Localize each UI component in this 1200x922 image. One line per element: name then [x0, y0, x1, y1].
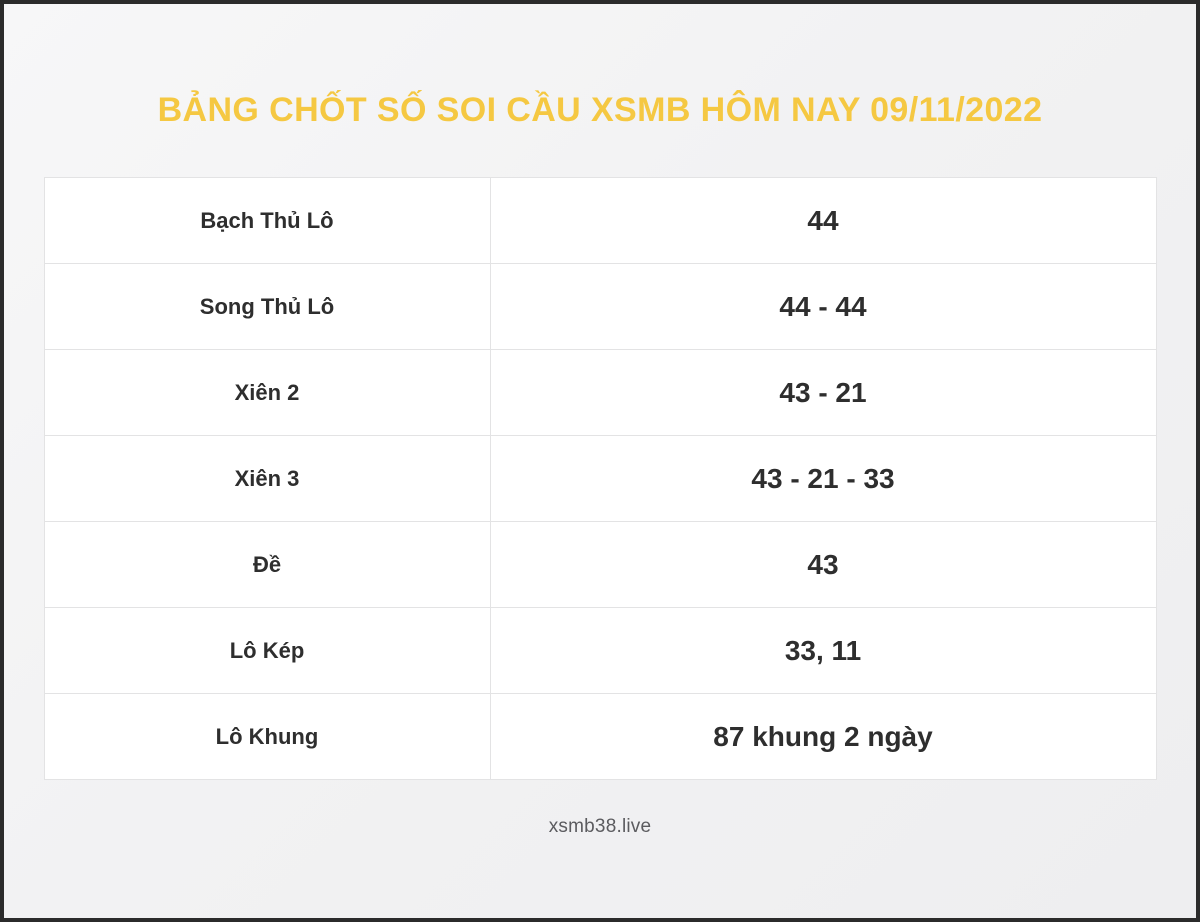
prediction-table: Bạch Thủ Lô44Song Thủ Lô44 - 44Xiên 243 … [44, 177, 1157, 780]
row-value: 44 - 44 [490, 264, 1156, 350]
table-row: Xiên 343 - 21 - 33 [44, 436, 1156, 522]
prediction-table-wrapper: Bạch Thủ Lô44Song Thủ Lô44 - 44Xiên 243 … [44, 177, 1157, 780]
table-row: Lô Khung87 khung 2 ngày [44, 694, 1156, 780]
row-value: 44 [490, 178, 1156, 264]
page-container: BẢNG CHỐT SỐ SOI CẦU XSMB HÔM NAY 09/11/… [0, 0, 1200, 922]
row-value: 43 - 21 - 33 [490, 436, 1156, 522]
row-label: Song Thủ Lô [44, 264, 490, 350]
row-value: 43 - 21 [490, 350, 1156, 436]
row-label: Xiên 3 [44, 436, 490, 522]
row-label: Đề [44, 522, 490, 608]
table-row: Xiên 243 - 21 [44, 350, 1156, 436]
row-label: Bạch Thủ Lô [44, 178, 490, 264]
footer-source-label: xsmb38.live [549, 816, 652, 838]
table-row: Lô Kép33, 11 [44, 608, 1156, 694]
table-row: Song Thủ Lô44 - 44 [44, 264, 1156, 350]
table-row: Bạch Thủ Lô44 [44, 178, 1156, 264]
row-label: Lô Khung [44, 694, 490, 780]
prediction-table-body: Bạch Thủ Lô44Song Thủ Lô44 - 44Xiên 243 … [44, 178, 1156, 780]
row-value: 43 [490, 522, 1156, 608]
row-value: 87 khung 2 ngày [490, 694, 1156, 780]
row-value: 33, 11 [490, 608, 1156, 694]
page-title: BẢNG CHỐT SỐ SOI CẦU XSMB HÔM NAY 09/11/… [158, 92, 1043, 129]
row-label: Lô Kép [44, 608, 490, 694]
table-row: Đề43 [44, 522, 1156, 608]
row-label: Xiên 2 [44, 350, 490, 436]
